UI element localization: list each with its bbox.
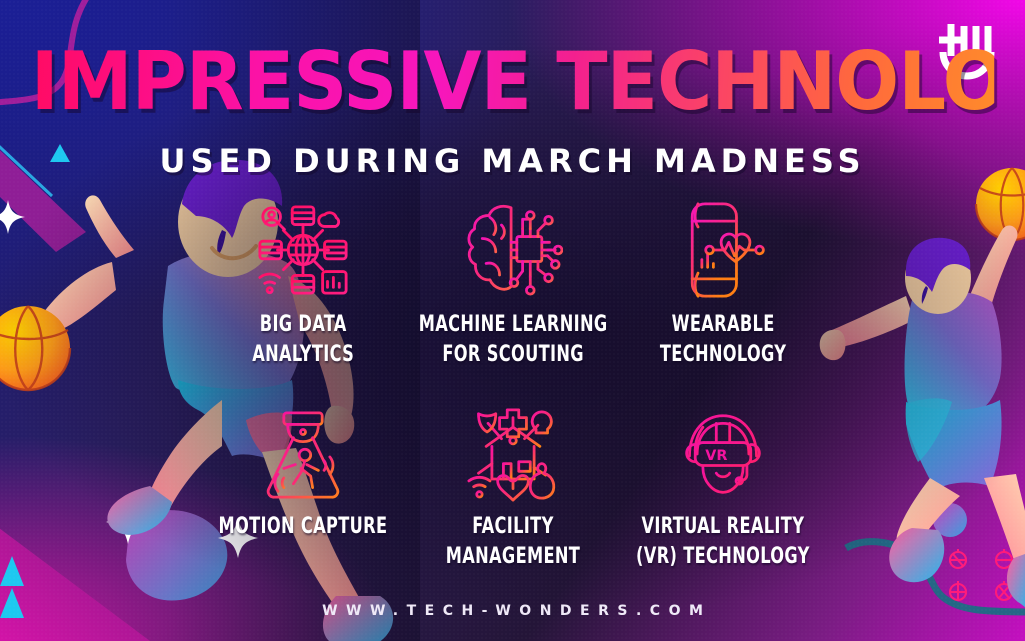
grid-item-label: VIRTUAL REALITY(VR) TECHNOLOGY [636,512,810,572]
grid-item-facility-management[interactable]: FACILITYMANAGEMENT [408,404,618,572]
grid-item-motion-capture[interactable]: MOTION CAPTURE [198,404,408,572]
mini-basketball-icon [950,549,1012,600]
motion-capture-camera-icon [255,404,351,506]
basketball [0,306,70,390]
grid-row-2: MOTION CAPTURE [198,404,828,572]
technology-grid: BIG DATAANALYTICS [198,196,828,573]
facility-management-house-icon [464,404,562,506]
grid-item-wearable-technology[interactable]: WEARABLETECHNOLOGY [618,196,828,370]
smartwatch-heartbeat-icon [677,196,769,304]
grid-item-label: WEARABLETECHNOLOGY [660,310,786,370]
infographic-poster: IMPRESSIVE TECHNOLOGY USED DURING MARCH … [0,0,1025,641]
big-data-globe-network-icon [254,196,352,304]
grid-item-label: BIG DATAANALYTICS [252,310,354,370]
basketball-player-dunking-illustration [820,168,1025,614]
grid-item-machine-learning-for-scouting[interactable]: MACHINE LEARNINGFOR SCOUTING [408,196,618,370]
vr-headset-icon: VR [674,404,772,506]
triangle-decoration [0,556,24,586]
grid-item-label: MOTION CAPTURE [219,512,388,542]
grid-item-big-data-analytics[interactable]: BIG DATAANALYTICS [198,196,408,370]
footer-url[interactable]: WWW.TECH-WONDERS.COM [0,603,1025,619]
page-subtitle: USED DURING MARCH MADNESS [0,142,1025,180]
page-title: IMPRESSIVE TECHNOLOGY [31,44,995,120]
vr-icon-text: VR [705,448,727,464]
grid-item-label: MACHINE LEARNINGFOR SCOUTING [419,310,608,370]
grid-item-label: FACILITYMANAGEMENT [446,512,580,572]
brain-circuit-icon [463,196,563,304]
grid-item-virtual-reality-technology[interactable]: VR VIRTUAL REALITY(VR) TECHNOLOGY [618,404,828,572]
grid-row-1: BIG DATAANALYTICS [198,196,828,370]
